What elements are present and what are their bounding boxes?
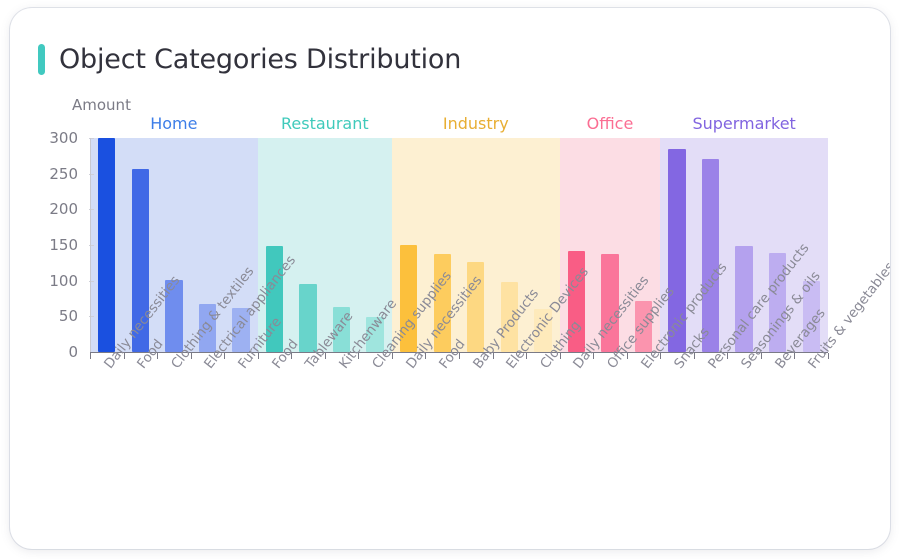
bar[interactable] (98, 138, 115, 352)
x-axis-tick-mark (560, 353, 561, 359)
x-axis-tick-mark (727, 353, 728, 359)
x-axis-tick-mark (291, 353, 292, 359)
x-axis-tick-mark (694, 353, 695, 359)
x-axis-tick-mark (761, 353, 762, 359)
x-axis-tick-mark (325, 353, 326, 359)
group-label-office: Office (587, 114, 634, 133)
y-axis-line (90, 138, 91, 352)
x-axis-tick-mark (593, 353, 594, 359)
x-axis-tick-mark (224, 353, 225, 359)
x-axis-tick-mark (191, 353, 192, 359)
y-axis-tick-label: 50 (32, 307, 78, 325)
group-label-supermarket: Supermarket (692, 114, 795, 133)
x-axis-tick-mark (425, 353, 426, 359)
bar-chart: Amount HomeRestaurantIndustryOfficeSuper… (10, 8, 890, 547)
x-axis-tick-mark (627, 353, 628, 359)
y-axis-tick-label: 300 (32, 129, 78, 147)
x-axis-tick-mark (157, 353, 158, 359)
y-axis-tick-label: 200 (32, 200, 78, 218)
x-axis-tick-mark (358, 353, 359, 359)
bar[interactable] (702, 159, 719, 352)
y-axis-tick-label: 250 (32, 165, 78, 183)
y-axis-tick-label: 100 (32, 272, 78, 290)
x-axis-tick-mark (258, 353, 259, 359)
y-axis-title: Amount (72, 96, 131, 114)
bar[interactable] (299, 284, 316, 352)
page-root: Object Categories Distribution Amount Ho… (0, 0, 900, 559)
x-axis-tick-mark (90, 353, 91, 359)
chart-card: Object Categories Distribution Amount Ho… (10, 8, 890, 549)
y-axis-tick-label: 0 (32, 343, 78, 361)
x-axis-tick-mark (794, 353, 795, 359)
x-axis-tick-mark (526, 353, 527, 359)
y-axis-tick-label: 150 (32, 236, 78, 254)
group-label-restaurant: Restaurant (281, 114, 369, 133)
x-axis-tick-mark (124, 353, 125, 359)
x-axis-tick-mark (392, 353, 393, 359)
group-label-industry: Industry (443, 114, 509, 133)
x-axis-tick-mark (828, 353, 829, 359)
x-axis-tick-mark (493, 353, 494, 359)
x-axis-tick-mark (660, 353, 661, 359)
group-label-home: Home (150, 114, 197, 133)
x-axis-tick-mark (459, 353, 460, 359)
